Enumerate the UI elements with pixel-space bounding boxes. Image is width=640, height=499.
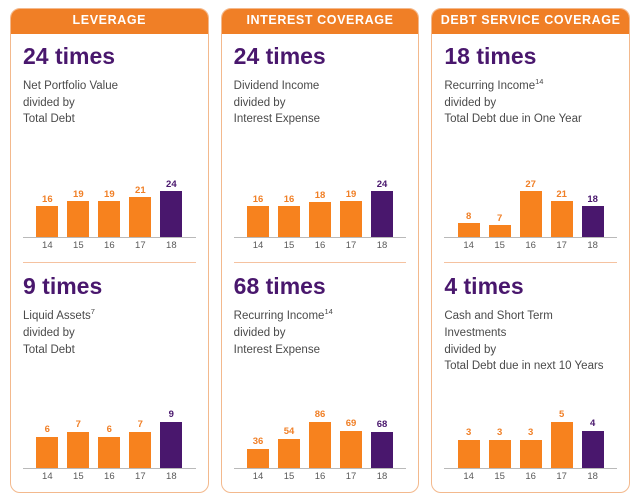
axis-tick-label: 16 — [520, 471, 542, 482]
metric-interest-coverage-2: 68 times Recurring Income14 divided by I… — [234, 262, 407, 492]
axis-tick-label: 17 — [129, 240, 151, 251]
axis-tick-label: 16 — [309, 471, 331, 482]
bar-rect — [67, 432, 89, 468]
metric-leverage-1: 24 times Net Portfolio Value divided by … — [11, 34, 208, 262]
bar-chart-bars: 87272118 — [444, 175, 617, 238]
axis-tick-label: 14 — [458, 240, 480, 251]
metric-divider-text: divided by — [234, 97, 286, 109]
metric-denominator: Interest Expense — [234, 113, 320, 125]
metric-numerator-footnote: 14 — [324, 307, 332, 316]
metric-description: Net Portfolio Value divided by Total Deb… — [23, 78, 196, 128]
metric-debt-service-2: 4 times Cash and Short Term Investments … — [444, 262, 617, 492]
bar-rect — [160, 422, 182, 468]
metric-numerator: Recurring Income — [234, 310, 325, 322]
metric-denominator: Interest Expense — [234, 344, 320, 356]
bar-column: 3 — [458, 406, 480, 468]
bar-rect — [489, 225, 511, 237]
bar-value-label: 54 — [284, 427, 295, 437]
bar-column: 4 — [582, 406, 604, 468]
bar-column: 5 — [551, 406, 573, 468]
bar-value-label: 16 — [253, 195, 264, 205]
bar-column: 19 — [98, 175, 120, 237]
bar-column: 86 — [309, 406, 331, 468]
axis-tick-label: 14 — [36, 471, 58, 482]
bar-rect — [247, 449, 269, 468]
bar-rect — [36, 206, 58, 237]
metric-divider-text: divided by — [444, 97, 496, 109]
bar-rect — [340, 431, 362, 468]
bar-value-label: 19 — [346, 190, 357, 200]
axis-tick-label: 14 — [36, 240, 58, 251]
axis-tick-label: 17 — [129, 471, 151, 482]
metric-numerator: Net Portfolio Value — [23, 80, 118, 92]
metric-description: Recurring Income14 divided by Total Debt… — [444, 78, 617, 128]
bar-column: 19 — [340, 175, 362, 237]
metric-denominator: Total Debt due in One Year — [444, 113, 581, 125]
metric-numerator-footnote: 7 — [91, 307, 95, 316]
metric-value: 4 times — [444, 274, 617, 299]
bar-rect — [67, 201, 89, 237]
axis-tick-label: 14 — [247, 240, 269, 251]
bar-chart-axis: 1415161718 — [234, 469, 407, 482]
bar-column: 16 — [36, 175, 58, 237]
bar-value-label: 18 — [315, 191, 326, 201]
metrics-dashboard: LEVERAGE 24 times Net Portfolio Value di… — [0, 0, 640, 499]
bar-chart: 67679 1415161718 — [23, 406, 196, 488]
panel-title-debt-service-coverage: DEBT SERVICE COVERAGE — [431, 8, 630, 34]
panel-leverage: LEVERAGE 24 times Net Portfolio Value di… — [10, 8, 209, 493]
bar-chart-bars: 1619192124 — [23, 175, 196, 238]
bar-chart-axis: 1415161718 — [444, 238, 617, 251]
bar-rect — [98, 437, 120, 468]
metric-value: 24 times — [234, 44, 407, 69]
panel-body-debt-service-coverage: 18 times Recurring Income14 divided by T… — [432, 34, 629, 492]
bar-rect — [520, 191, 542, 237]
panel-body-interest-coverage: 24 times Dividend Income divided by Inte… — [222, 34, 419, 492]
bar-chart-bars: 33354 — [444, 406, 617, 469]
bar-column: 69 — [340, 406, 362, 468]
bar-rect — [371, 191, 393, 237]
bar-value-label: 36 — [253, 437, 264, 447]
bar-chart-axis: 1415161718 — [444, 469, 617, 482]
axis-tick-label: 18 — [371, 240, 393, 251]
bar-value-label: 27 — [525, 180, 536, 190]
axis-tick-label: 17 — [551, 471, 573, 482]
bar-column: 21 — [551, 175, 573, 237]
metric-numerator: Liquid Assets — [23, 310, 91, 322]
bar-rect — [278, 206, 300, 237]
axis-tick-label: 17 — [340, 471, 362, 482]
metric-interest-coverage-1: 24 times Dividend Income divided by Inte… — [222, 34, 419, 262]
metric-denominator: Total Debt — [23, 344, 75, 356]
bar-value-label: 68 — [377, 420, 388, 430]
bar-value-label: 4 — [590, 419, 595, 429]
bar-rect — [129, 197, 151, 237]
bar-rect — [582, 431, 604, 468]
bar-column: 16 — [247, 175, 269, 237]
bar-rect — [98, 201, 120, 237]
bar-chart-axis: 1415161718 — [234, 238, 407, 251]
bar-rect — [551, 201, 573, 237]
bar-column: 16 — [278, 175, 300, 237]
panel-debt-service-coverage: DEBT SERVICE COVERAGE 18 times Recurring… — [431, 8, 630, 493]
bar-value-label: 19 — [73, 190, 84, 200]
axis-tick-label: 14 — [247, 471, 269, 482]
bar-value-label: 6 — [45, 425, 50, 435]
bar-rect — [129, 432, 151, 468]
bar-value-label: 5 — [559, 410, 564, 420]
panel-title-interest-coverage: INTEREST COVERAGE — [221, 8, 420, 34]
bar-value-label: 24 — [166, 180, 177, 190]
bar-value-label: 24 — [377, 180, 388, 190]
bar-column: 19 — [67, 175, 89, 237]
bar-value-label: 21 — [556, 190, 567, 200]
bar-column: 3 — [520, 406, 542, 468]
axis-tick-label: 15 — [489, 240, 511, 251]
bar-value-label: 9 — [169, 410, 174, 420]
axis-tick-label: 18 — [582, 471, 604, 482]
bar-column: 8 — [458, 175, 480, 237]
bar-value-label: 16 — [42, 195, 53, 205]
bar-rect — [489, 440, 511, 468]
bar-rect — [247, 206, 269, 237]
axis-tick-label: 18 — [160, 240, 182, 251]
metric-description: Cash and Short Term Investments divided … — [444, 308, 617, 375]
bar-value-label: 3 — [466, 428, 471, 438]
bar-rect — [520, 440, 542, 468]
bar-chart: 3654866968 1415161718 — [234, 406, 407, 488]
bar-value-label: 69 — [346, 419, 357, 429]
bar-column: 68 — [371, 406, 393, 468]
axis-tick-label: 15 — [67, 240, 89, 251]
bar-value-label: 19 — [104, 190, 115, 200]
bar-value-label: 7 — [497, 214, 502, 224]
axis-tick-label: 16 — [98, 471, 120, 482]
axis-tick-label: 15 — [278, 240, 300, 251]
bar-column: 54 — [278, 406, 300, 468]
bar-chart: 33354 1415161718 — [444, 406, 617, 488]
bar-value-label: 6 — [107, 425, 112, 435]
metric-denominator: Total Debt due in next 10 Years — [444, 360, 603, 372]
bar-column: 27 — [520, 175, 542, 237]
metric-leverage-2: 9 times Liquid Assets7 divided by Total … — [23, 262, 196, 492]
axis-tick-label: 14 — [458, 471, 480, 482]
bar-value-label: 16 — [284, 195, 295, 205]
bar-value-label: 3 — [528, 428, 533, 438]
metric-numerator-footnote: 14 — [535, 77, 543, 86]
bar-value-label: 86 — [315, 410, 326, 420]
bar-column: 6 — [98, 406, 120, 468]
bar-value-label: 3 — [497, 428, 502, 438]
bar-column: 21 — [129, 175, 151, 237]
axis-tick-label: 18 — [582, 240, 604, 251]
bar-rect — [340, 201, 362, 237]
bar-rect — [458, 440, 480, 468]
metric-value: 24 times — [23, 44, 196, 69]
panel-title-leverage: LEVERAGE — [10, 8, 209, 34]
axis-tick-label: 16 — [309, 240, 331, 251]
bar-rect — [309, 202, 331, 237]
bar-rect — [582, 206, 604, 237]
bar-chart-bars: 67679 — [23, 406, 196, 469]
bar-chart: 87272118 1415161718 — [444, 175, 617, 257]
bar-column: 24 — [371, 175, 393, 237]
metric-description: Liquid Assets7 divided by Total Debt — [23, 308, 196, 358]
bar-chart-bars: 3654866968 — [234, 406, 407, 469]
bar-rect — [160, 191, 182, 237]
bar-rect — [36, 437, 58, 468]
axis-tick-label: 17 — [551, 240, 573, 251]
metric-numerator: Dividend Income — [234, 80, 320, 92]
metric-value: 18 times — [444, 44, 617, 69]
axis-tick-label: 18 — [371, 471, 393, 482]
bar-chart-axis: 1415161718 — [23, 238, 196, 251]
bar-value-label: 8 — [466, 212, 471, 222]
bar-rect — [371, 432, 393, 468]
bar-value-label: 7 — [76, 420, 81, 430]
axis-tick-label: 15 — [67, 471, 89, 482]
bar-column: 18 — [309, 175, 331, 237]
bar-column: 7 — [129, 406, 151, 468]
metric-divider-text: divided by — [23, 97, 75, 109]
bar-chart: 1616181924 1415161718 — [234, 175, 407, 257]
bar-column: 7 — [67, 406, 89, 468]
axis-tick-label: 15 — [489, 471, 511, 482]
axis-tick-label: 17 — [340, 240, 362, 251]
bar-rect — [551, 422, 573, 468]
metric-divider-text: divided by — [444, 344, 496, 356]
bar-column: 3 — [489, 406, 511, 468]
axis-tick-label: 16 — [520, 240, 542, 251]
axis-tick-label: 18 — [160, 471, 182, 482]
bar-column: 36 — [247, 406, 269, 468]
panel-body-leverage: 24 times Net Portfolio Value divided by … — [11, 34, 208, 492]
metric-description: Dividend Income divided by Interest Expe… — [234, 78, 407, 128]
bar-column: 24 — [160, 175, 182, 237]
bar-value-label: 21 — [135, 186, 146, 196]
bar-value-label: 18 — [587, 195, 598, 205]
metric-value: 9 times — [23, 274, 196, 299]
bar-chart-bars: 1616181924 — [234, 175, 407, 238]
metric-numerator: Cash and Short Term Investments — [444, 310, 552, 339]
bar-chart: 1619192124 1415161718 — [23, 175, 196, 257]
metric-divider-text: divided by — [234, 327, 286, 339]
bar-rect — [458, 223, 480, 237]
bar-value-label: 7 — [138, 420, 143, 430]
axis-tick-label: 15 — [278, 471, 300, 482]
metric-denominator: Total Debt — [23, 113, 75, 125]
metric-description: Recurring Income14 divided by Interest E… — [234, 308, 407, 358]
bar-column: 6 — [36, 406, 58, 468]
bar-column: 9 — [160, 406, 182, 468]
bar-column: 7 — [489, 175, 511, 237]
metric-debt-service-1: 18 times Recurring Income14 divided by T… — [432, 34, 629, 262]
bar-column: 18 — [582, 175, 604, 237]
axis-tick-label: 16 — [98, 240, 120, 251]
metric-divider-text: divided by — [23, 327, 75, 339]
bar-rect — [278, 439, 300, 468]
bar-rect — [309, 422, 331, 468]
bar-chart-axis: 1415161718 — [23, 469, 196, 482]
metric-numerator: Recurring Income — [444, 80, 535, 92]
panel-interest-coverage: INTEREST COVERAGE 24 times Dividend Inco… — [221, 8, 420, 493]
metric-value: 68 times — [234, 274, 407, 299]
